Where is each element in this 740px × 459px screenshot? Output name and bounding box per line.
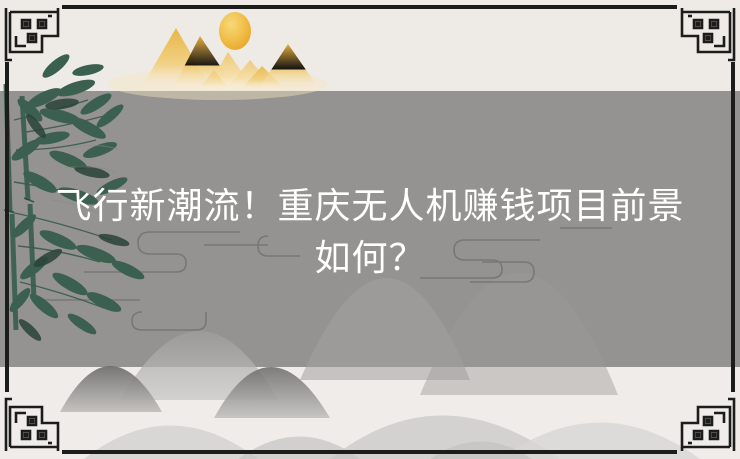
frame-rule-top — [62, 5, 677, 9]
sun-icon — [219, 12, 251, 50]
meander-corner-icon-bottom-right — [668, 387, 738, 457]
meander-corner-icon-top-left — [2, 2, 72, 72]
meander-corner-icon-bottom-left — [2, 387, 72, 457]
frame-rule-bottom — [62, 450, 677, 454]
meander-corner-icon-top-right — [668, 2, 738, 72]
poster-artwork — [0, 0, 740, 459]
frame-rule-right — [731, 62, 735, 392]
frame-rule-left — [5, 62, 9, 392]
gray-mountain-silhouette — [60, 273, 700, 459]
gold-mountain-illustration — [108, 12, 328, 100]
poster-canvas: 飞行新潮流！重庆无人机赚钱项目前景如何？ — [0, 0, 740, 459]
